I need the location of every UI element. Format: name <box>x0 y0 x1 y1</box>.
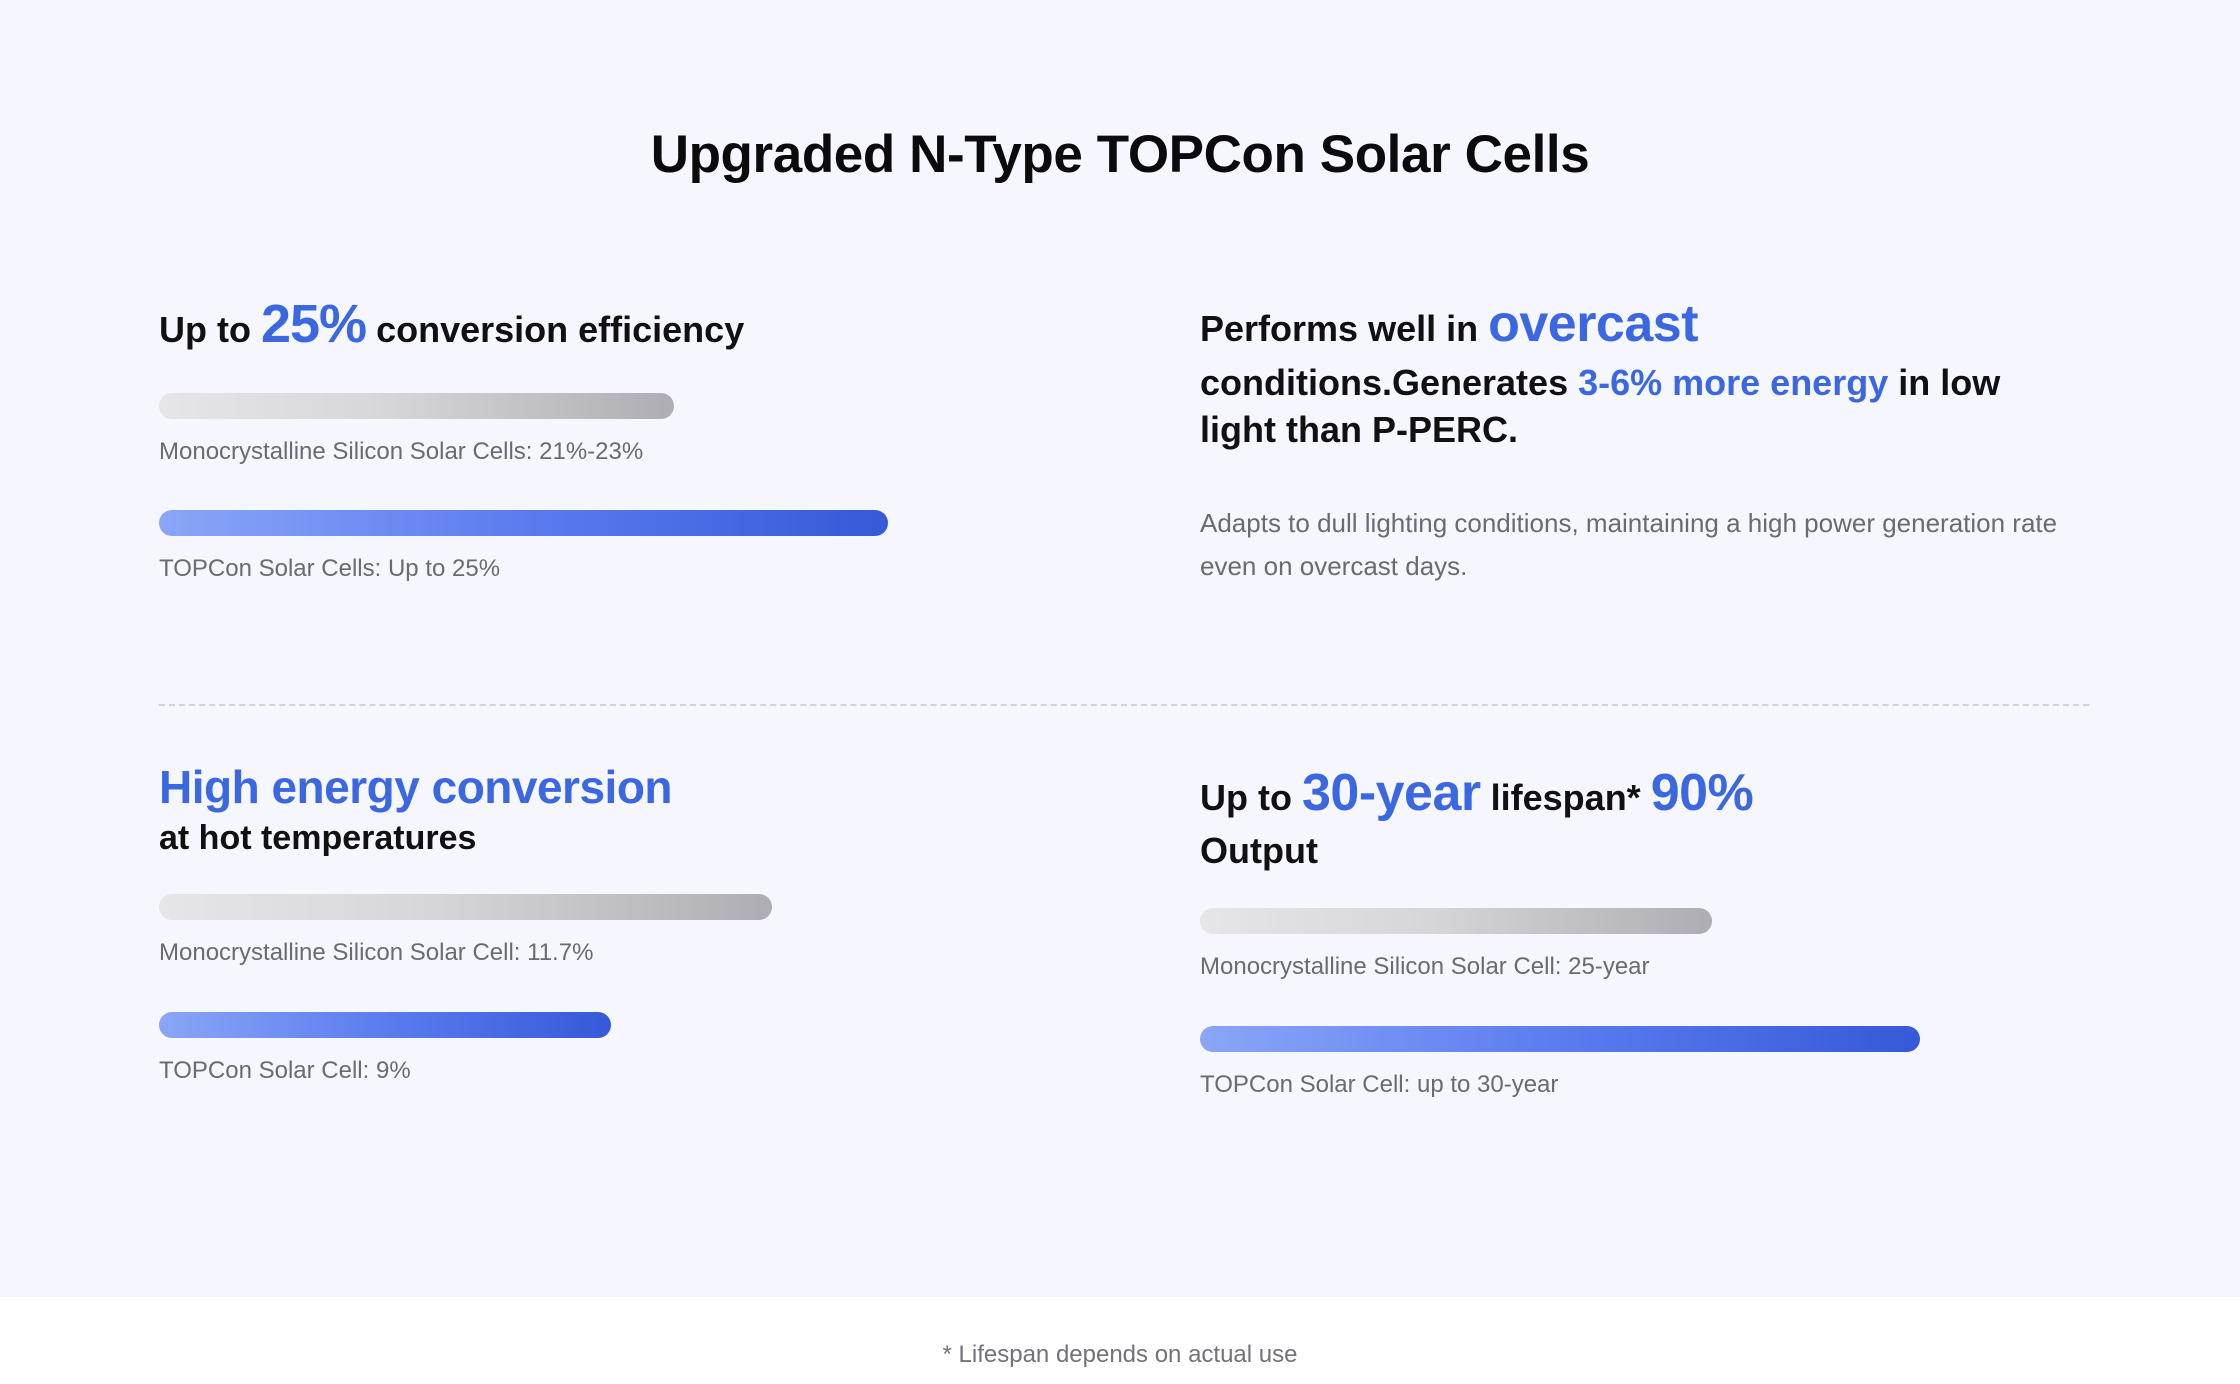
efficiency-headline-highlight: 25% <box>261 294 366 354</box>
overcast-headline-mid-lead: conditions.Generates <box>1200 362 1578 403</box>
bar-fill-topcon-lifespan <box>1200 1026 1920 1052</box>
bar-fill-topcon-efficiency <box>159 510 888 536</box>
quadrant-overcast-performance: Performs well in overcastconditions.Gene… <box>1200 290 2090 587</box>
bar-fill-topcon-hot-temperature <box>159 1012 611 1038</box>
feature-grid: Up to 25% conversion efficiency Monocrys… <box>159 290 2089 1220</box>
bar-fill-mono-efficiency <box>159 393 674 419</box>
bar-label-mono-lifespan: Monocrystalline Silicon Solar Cell: 25-y… <box>1200 951 2090 982</box>
quadrant-hot-temperature: High energy conversion at hot temperatur… <box>159 760 1089 1086</box>
bar-label-topcon-efficiency: TOPCon Solar Cells: Up to 25% <box>159 553 1089 584</box>
lifespan-headline: Up to 30-year lifespan* 90%Output <box>1200 760 2080 874</box>
bar-label-topcon-lifespan: TOPCon Solar Cell: up to 30-year <box>1200 1069 2090 1100</box>
bar-label-mono-hot-temperature: Monocrystalline Silicon Solar Cell: 11.7… <box>159 937 1089 968</box>
hot-temperature-headline-line2: at hot temperatures <box>159 816 1089 860</box>
lifespan-headline-highlight-years: 30-year <box>1302 764 1481 822</box>
efficiency-bar-topcon: TOPCon Solar Cells: Up to 25% <box>159 510 1089 584</box>
content-panel: Upgraded N-Type TOPCon Solar Cells Up to… <box>0 0 2240 1297</box>
overcast-headline-lead: Performs well in <box>1200 308 1488 349</box>
hot-temperature-headline: High energy conversion at hot temperatur… <box>159 760 1089 860</box>
overcast-headline-highlight-energy: 3-6% more energy <box>1578 362 1888 403</box>
lifespan-bar-group: Monocrystalline Silicon Solar Cell: 25-y… <box>1200 908 2090 1099</box>
efficiency-headline-tail: conversion efficiency <box>366 309 744 350</box>
lifespan-headline-lead: Up to <box>1200 777 1302 818</box>
efficiency-bar-mono: Monocrystalline Silicon Solar Cells: 21%… <box>159 393 1089 467</box>
lifespan-bar-topcon: TOPCon Solar Cell: up to 30-year <box>1200 1026 2090 1100</box>
overcast-support-text: Adapts to dull lighting conditions, main… <box>1200 502 2070 588</box>
hot-temperature-headline-line1: High energy conversion <box>159 760 1089 814</box>
hot-temperature-bar-group: Monocrystalline Silicon Solar Cell: 11.7… <box>159 894 1089 1085</box>
lifespan-headline-tail: Output <box>1200 830 1318 871</box>
efficiency-headline-lead: Up to <box>159 309 261 350</box>
hot-temperature-bar-mono: Monocrystalline Silicon Solar Cell: 11.7… <box>159 894 1089 968</box>
footnote-text: * Lifespan depends on actual use <box>0 1341 2240 1369</box>
overcast-headline-highlight: overcast <box>1488 295 1698 353</box>
lifespan-headline-highlight-output: 90% <box>1651 764 1754 822</box>
bar-fill-mono-lifespan <box>1200 908 1712 934</box>
efficiency-bar-group: Monocrystalline Silicon Solar Cells: 21%… <box>159 393 1089 584</box>
overcast-headline: Performs well in overcastconditions.Gene… <box>1200 290 2080 454</box>
lifespan-headline-mid: lifespan* <box>1481 777 1651 818</box>
bar-fill-mono-hot-temperature <box>159 894 772 920</box>
bar-label-mono-efficiency: Monocrystalline Silicon Solar Cells: 21%… <box>159 436 1089 467</box>
lifespan-bar-mono: Monocrystalline Silicon Solar Cell: 25-y… <box>1200 908 2090 982</box>
page-title: Upgraded N-Type TOPCon Solar Cells <box>0 126 2240 184</box>
bar-label-topcon-hot-temperature: TOPCon Solar Cell: 9% <box>159 1055 1089 1086</box>
infographic-page: Upgraded N-Type TOPCon Solar Cells Up to… <box>0 0 2240 1384</box>
quadrant-lifespan: Up to 30-year lifespan* 90%Output Monocr… <box>1200 760 2090 1100</box>
efficiency-headline: Up to 25% conversion efficiency <box>159 290 1089 359</box>
hot-temperature-bar-topcon: TOPCon Solar Cell: 9% <box>159 1012 1089 1086</box>
quadrant-conversion-efficiency: Up to 25% conversion efficiency Monocrys… <box>159 290 1089 584</box>
